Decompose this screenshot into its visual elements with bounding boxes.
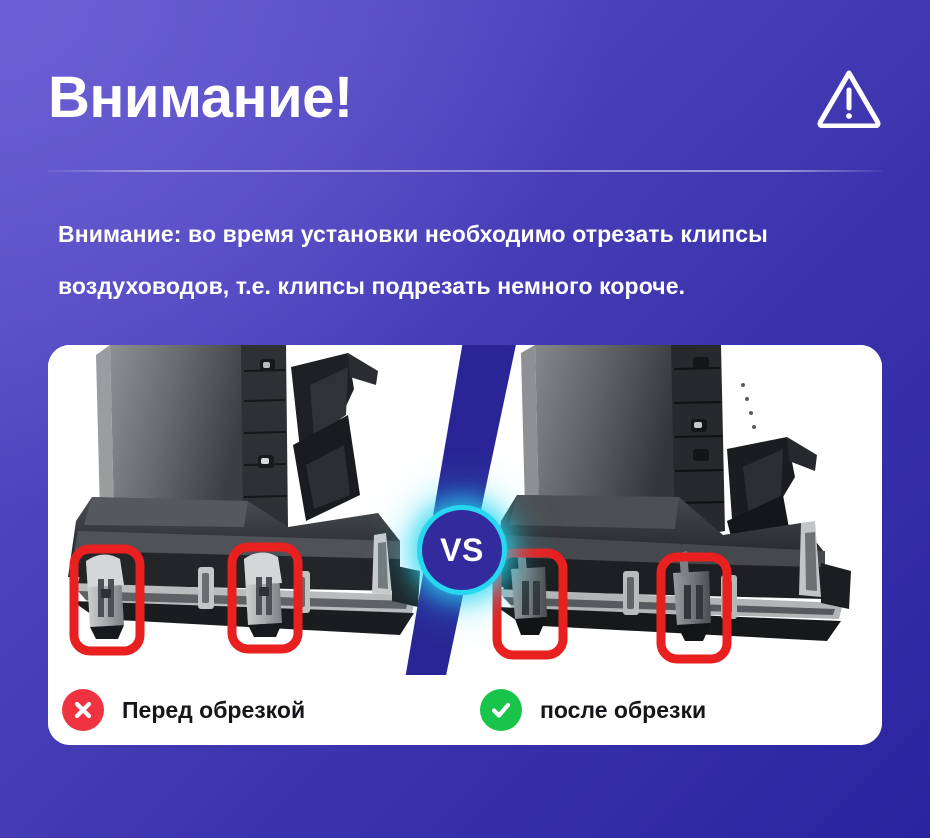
clip-long-left (86, 554, 124, 639)
duct-illustration-before (48, 345, 465, 675)
duct-illustration-after (465, 345, 882, 675)
poster-header: Внимание! (48, 48, 882, 148)
photo-after-cutting (465, 345, 882, 675)
vs-badge: VS (417, 505, 507, 595)
label-before-cutting: Перед обрезкой (62, 675, 305, 745)
label-before-text: Перед обрезкой (122, 697, 305, 724)
label-after-text: после обрезки (540, 697, 706, 724)
header-divider (48, 170, 882, 172)
check-icon (480, 689, 522, 731)
photo-before-cutting (48, 345, 465, 675)
label-after-cutting: после обрезки (480, 675, 706, 745)
page-title: Внимание! (48, 69, 353, 127)
clip-long-right (244, 552, 282, 637)
warning-body-text: Внимание: во время установки необходимо … (58, 208, 888, 312)
warning-poster: Внимание! Внимание: во время установки н… (0, 0, 930, 838)
warning-triangle-icon (816, 68, 882, 128)
card-footer: Перед обрезкой после обрезки (48, 675, 882, 745)
vs-label: VS (440, 532, 484, 569)
cross-icon (62, 689, 104, 731)
